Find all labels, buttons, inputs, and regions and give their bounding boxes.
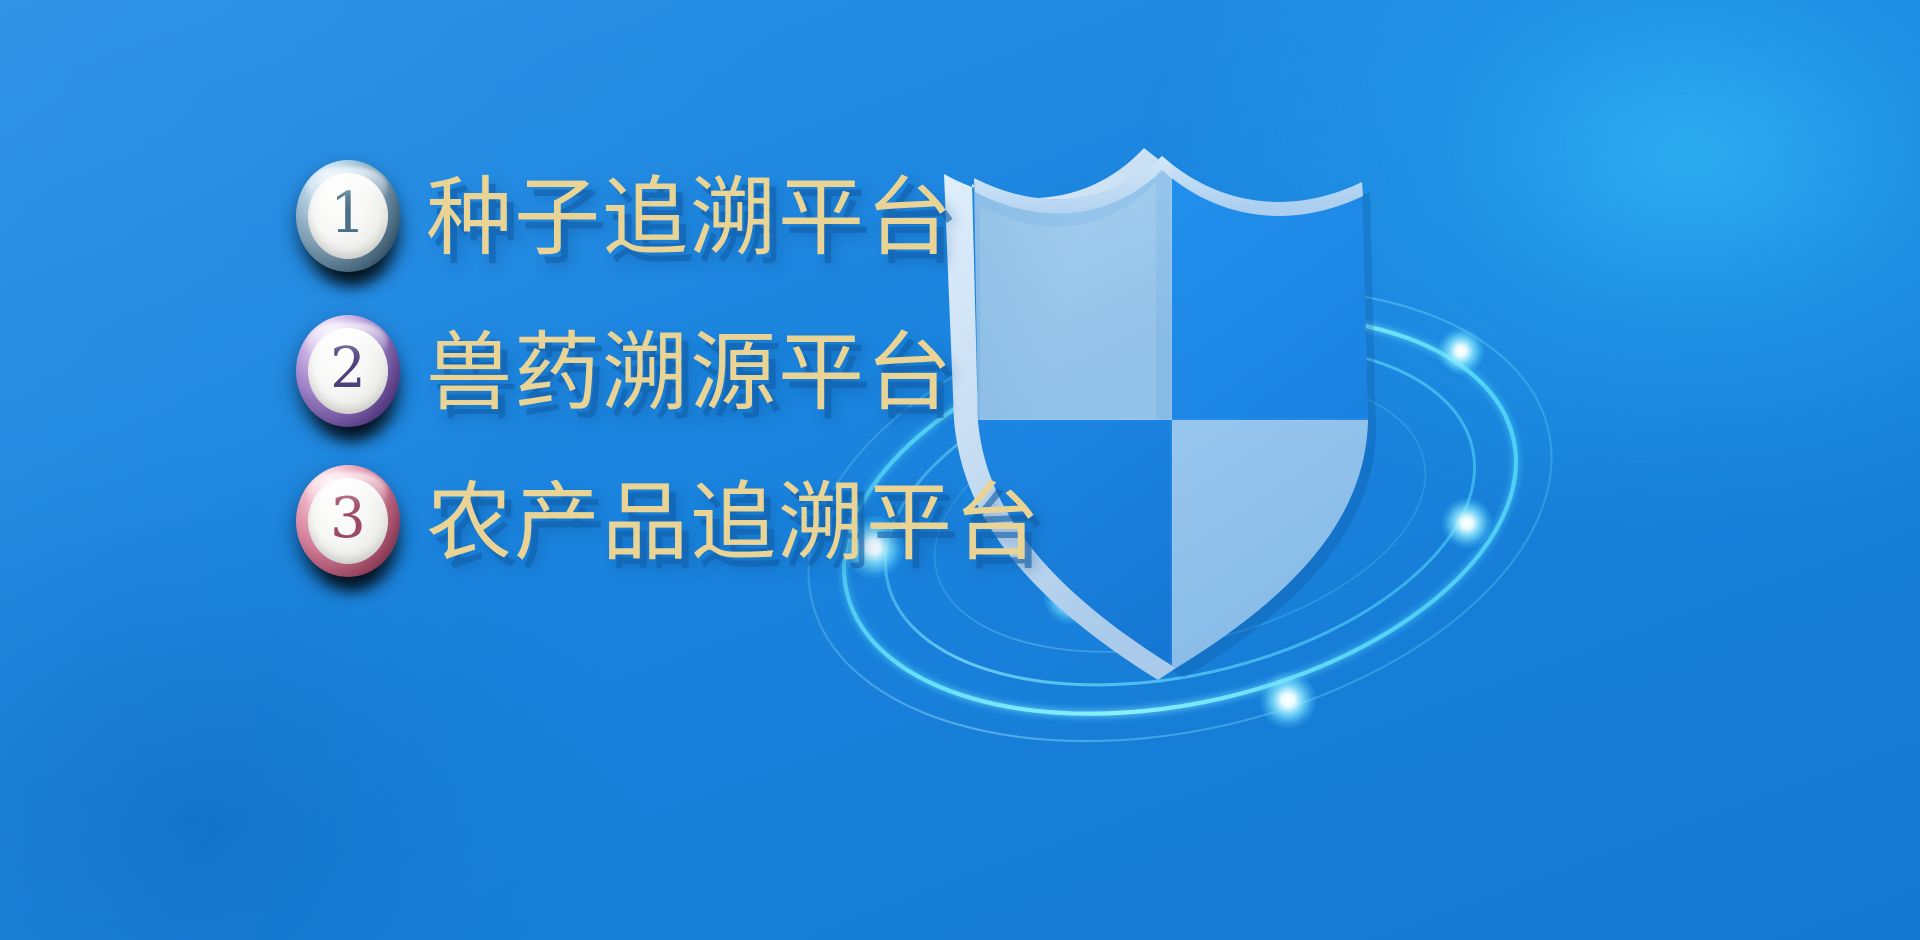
platform-label: 农产品追溯平台 [426, 480, 1042, 566]
badge-inner-disc: 2 [308, 328, 388, 414]
platform-label: 种子追溯平台 [426, 175, 954, 261]
list-item[interactable]: 1 种子追溯平台 [296, 160, 954, 276]
badge-ring: 2 [296, 315, 400, 427]
number-badge-1[interactable]: 1 [296, 160, 404, 276]
badge-ring: 1 [296, 160, 400, 272]
number-badge-2[interactable]: 2 [296, 315, 404, 431]
number-badge-3[interactable]: 3 [296, 465, 404, 581]
badge-number: 3 [330, 491, 366, 547]
list-item[interactable]: 3 农产品追溯平台 [296, 465, 1042, 581]
badge-inner-disc: 1 [308, 173, 388, 259]
badge-number: 1 [330, 186, 366, 242]
badge-number: 2 [330, 341, 366, 397]
badge-ring: 3 [296, 465, 400, 577]
badge-inner-disc: 3 [308, 478, 388, 564]
list-item[interactable]: 2 兽药溯源平台 [296, 315, 954, 431]
banner-canvas: 1 种子追溯平台 2 兽药溯源平台 [0, 0, 1920, 940]
platform-label: 兽药溯源平台 [426, 330, 954, 416]
platform-list: 1 种子追溯平台 2 兽药溯源平台 [0, 0, 1920, 940]
